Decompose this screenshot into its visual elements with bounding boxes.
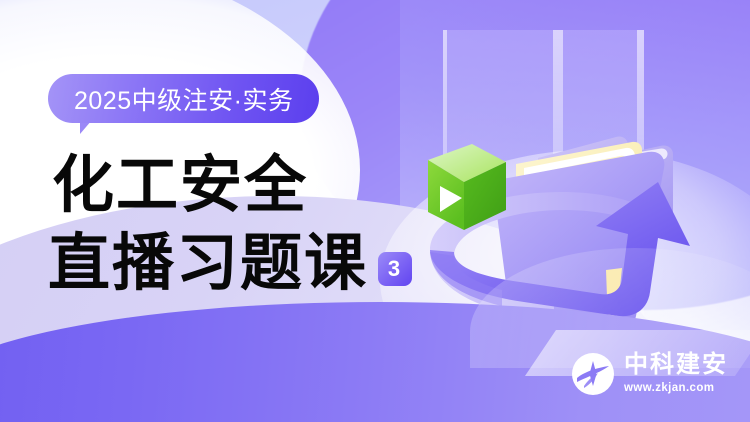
zkjan-logo-icon <box>571 352 615 396</box>
badge-label: 2025中级注安·实务 <box>48 74 319 123</box>
title-block: 化工安全 直播习题课 3 <box>48 152 412 298</box>
logo-text-group: 中科建安 www.zkjan.com <box>624 353 728 395</box>
course-badge: 2025中级注安·实务 <box>48 74 319 123</box>
brand-logo: 中科建安 www.zkjan.com <box>571 352 728 396</box>
title-line-1-wrapper: 化工安全 <box>52 152 412 220</box>
title-line-2-wrapper: 直播习题课 3 <box>48 230 412 298</box>
title-line-2: 直播习题课 <box>48 230 368 298</box>
title-line-1: 化工安全 <box>52 152 308 220</box>
brand-url: www.zkjan.com <box>624 383 728 395</box>
episode-number-badge: 3 <box>378 252 412 286</box>
course-poster: 2025中级注安·实务 化工安全 直播习题课 3 中科建安 www.zkjan.… <box>0 0 750 422</box>
brand-name: 中科建安 <box>624 353 728 377</box>
